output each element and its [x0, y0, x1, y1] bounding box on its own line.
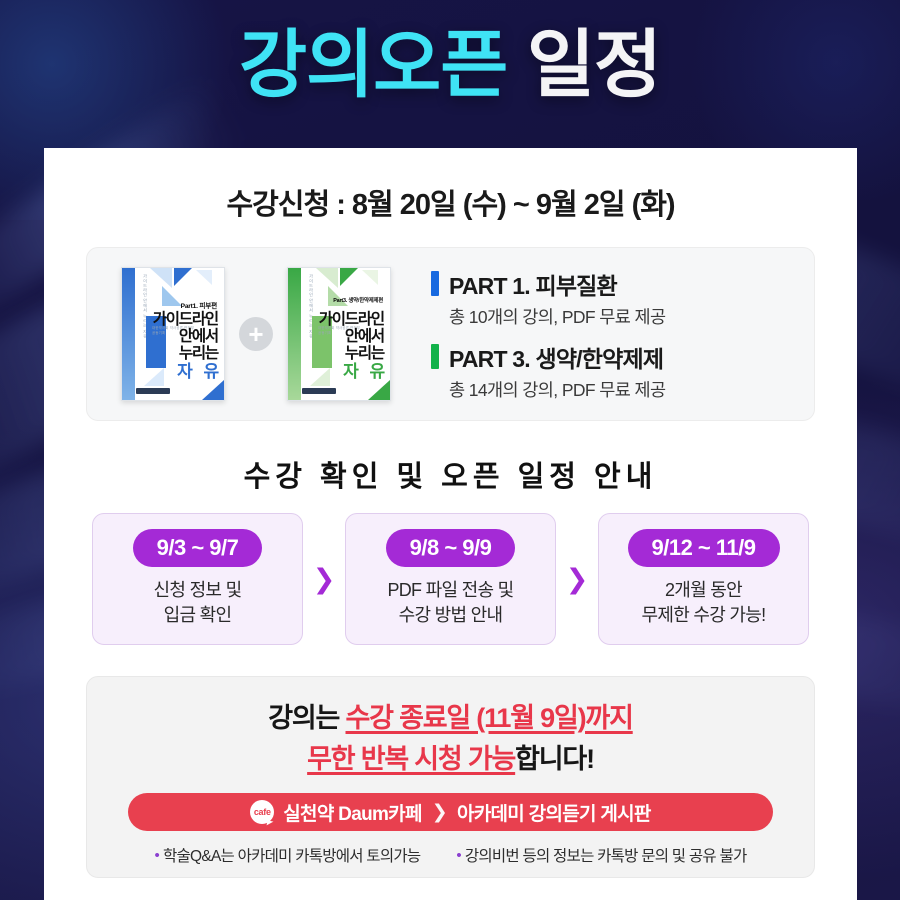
step-description-line1: PDF 파일 전송 및 — [387, 578, 513, 604]
schedule-step-3: 9/12 ~ 11/9 2개월 동안 무제한 수강 가능! — [598, 513, 809, 645]
book-title-line: 가이드라인 — [153, 312, 218, 328]
part-color-bar — [431, 271, 439, 296]
chevron-right-icon: ❯ — [303, 566, 345, 593]
schedule-steps: 9/3 ~ 9/7 신청 정보 및 입금 확인 ❯ 9/8 ~ 9/9 PDF … — [44, 513, 857, 645]
bullet-icon: • — [456, 848, 461, 863]
step-date-badge: 9/8 ~ 9/9 — [386, 529, 516, 566]
book-decor-triangle — [196, 270, 212, 285]
course-products-panel: 가이드라인 안에서 누리는 자유 Part1. 피부편 대한약사회 약사공론 편… — [86, 247, 815, 421]
cafe-button-text-before: 실천약 Daum카페 — [283, 799, 421, 826]
page-title-rest: 일정 — [507, 23, 661, 106]
daum-cafe-button[interactable]: cafe 실천약 Daum카페 ❯ 아카데미 강의듣기 게시판 — [128, 793, 773, 831]
notice-highlight-text: 무한 반복 시청 가능 — [307, 744, 515, 774]
part-title: PART 1. 피부질환 — [449, 267, 617, 301]
step-description: 2개월 동안 무제한 수강 가능! — [642, 578, 766, 629]
notice-plain-text: 합니다! — [515, 744, 594, 774]
book-cover-part3: 가이드라인 안에서 누리는 자유 Part3. 생약/한약제제편 대한약사회 약… — [287, 267, 391, 401]
part-subtitle: 총 14개의 강의, PDF 무료 제공 — [449, 377, 814, 402]
book-title-line: 누리는 — [345, 346, 384, 362]
cafe-button-text-after: 아카데미 강의듣기 게시판 — [457, 799, 651, 826]
book-cover-part1: 가이드라인 안에서 누리는 자유 Part1. 피부편 대한약사회 약사공론 편… — [121, 267, 225, 401]
footnote-text: 강의비번 등의 정보는 카톡방 문의 및 공유 불가 — [465, 844, 747, 866]
chevron-right-icon: ❯ — [556, 566, 598, 593]
step-description-line1: 2개월 동안 — [642, 578, 766, 604]
footnote-item: • 강의비번 등의 정보는 카톡방 문의 및 공유 불가 — [456, 844, 746, 866]
schedule-step-2: 9/8 ~ 9/9 PDF 파일 전송 및 수강 방법 안내 — [345, 513, 556, 645]
schedule-heading: 수강 확인 및 오픈 일정 안내 — [44, 453, 857, 495]
book-spine — [122, 268, 135, 400]
cafe-icon: cafe — [250, 800, 274, 824]
part-list: PART 1. 피부질환 총 10개의 강의, PDF 무료 제공 PART 3… — [425, 267, 814, 402]
step-description-line2: 수강 방법 안내 — [387, 603, 513, 629]
book-decor-triangle — [316, 268, 338, 288]
page-title-highlight: 강의오픈 — [239, 23, 507, 106]
chevron-right-icon: ❯ — [431, 801, 448, 824]
book-title-line: 안에서 — [179, 329, 218, 345]
footnote-item: • 학술Q&A는 아카데미 카톡방에서 토의가능 — [155, 844, 421, 866]
notice-heading-line2: 무한 반복 시청 가능합니다! — [87, 739, 814, 780]
book-title-line: 자유 — [343, 363, 384, 380]
schedule-step-1: 9/3 ~ 9/7 신청 정보 및 입금 확인 — [92, 513, 303, 645]
step-description: PDF 파일 전송 및 수강 방법 안내 — [387, 578, 513, 629]
step-date-badge: 9/12 ~ 11/9 — [628, 529, 780, 566]
book-title-line: 안에서 — [345, 329, 384, 345]
book-decor-triangle — [162, 286, 182, 306]
book-spine — [288, 268, 301, 400]
book-title-line: 누리는 — [179, 346, 218, 362]
book-covers-group: 가이드라인 안에서 누리는 자유 Part1. 피부편 대한약사회 약사공론 편… — [87, 267, 425, 401]
footnote-text: 학술Q&A는 아카데미 카톡방에서 토의가능 — [163, 844, 420, 866]
part-title: PART 3. 생약/한약제제 — [449, 340, 663, 374]
notice-plain-text: 강의는 — [268, 703, 345, 733]
book-part-label: Part3. 생약/한약제제편 — [333, 296, 383, 304]
main-content-card: 수강신청 : 8월 20일 (수) ~ 9월 2일 (화) 가이드라인 안에서 … — [44, 148, 857, 900]
book-decor-triangle — [362, 270, 378, 285]
book-publisher-mark — [136, 388, 170, 394]
notice-heading: 강의는 수강 종료일 (11월 9일)까지 무한 반복 시청 가능합니다! — [87, 698, 814, 779]
book-decor-triangle — [174, 268, 192, 286]
notice-box: 강의는 수강 종료일 (11월 9일)까지 무한 반복 시청 가능합니다! ca… — [86, 676, 815, 878]
bullet-icon: • — [155, 848, 160, 863]
application-period-line: 수강신청 : 8월 20일 (수) ~ 9월 2일 (화) — [44, 181, 857, 223]
step-description: 신청 정보 및 입금 확인 — [154, 578, 242, 629]
notice-highlight-text: 수강 종료일 (11월 9일)까지 — [346, 703, 633, 733]
book-part-label: Part1. 피부편 — [181, 300, 217, 310]
footnote-list: • 학술Q&A는 아카데미 카톡방에서 토의가능 • 강의비번 등의 정보는 카… — [87, 844, 814, 866]
step-description-line1: 신청 정보 및 — [154, 578, 242, 604]
part-item-2: PART 3. 생약/한약제제 총 14개의 강의, PDF 무료 제공 — [431, 340, 814, 402]
step-description-line2: 무제한 수강 가능! — [642, 603, 766, 629]
book-decor-triangle — [368, 380, 390, 400]
book-decor-triangle — [202, 380, 224, 400]
step-date-badge: 9/3 ~ 9/7 — [133, 529, 263, 566]
book-decor-triangle — [340, 268, 358, 286]
part-subtitle: 총 10개의 강의, PDF 무료 제공 — [449, 304, 814, 329]
step-description-line2: 입금 확인 — [154, 603, 242, 629]
part-color-bar — [431, 344, 439, 369]
plus-icon: + — [239, 317, 273, 351]
book-publisher-mark — [302, 388, 336, 394]
page-title: 강의오픈 일정 — [0, 26, 900, 104]
notice-heading-line1: 강의는 수강 종료일 (11월 9일)까지 — [87, 698, 814, 739]
part-item-1: PART 1. 피부질환 총 10개의 강의, PDF 무료 제공 — [431, 267, 814, 329]
book-title-line: 가이드라인 — [319, 312, 384, 328]
book-title-line: 자유 — [177, 363, 218, 380]
book-decor-triangle — [150, 268, 172, 288]
